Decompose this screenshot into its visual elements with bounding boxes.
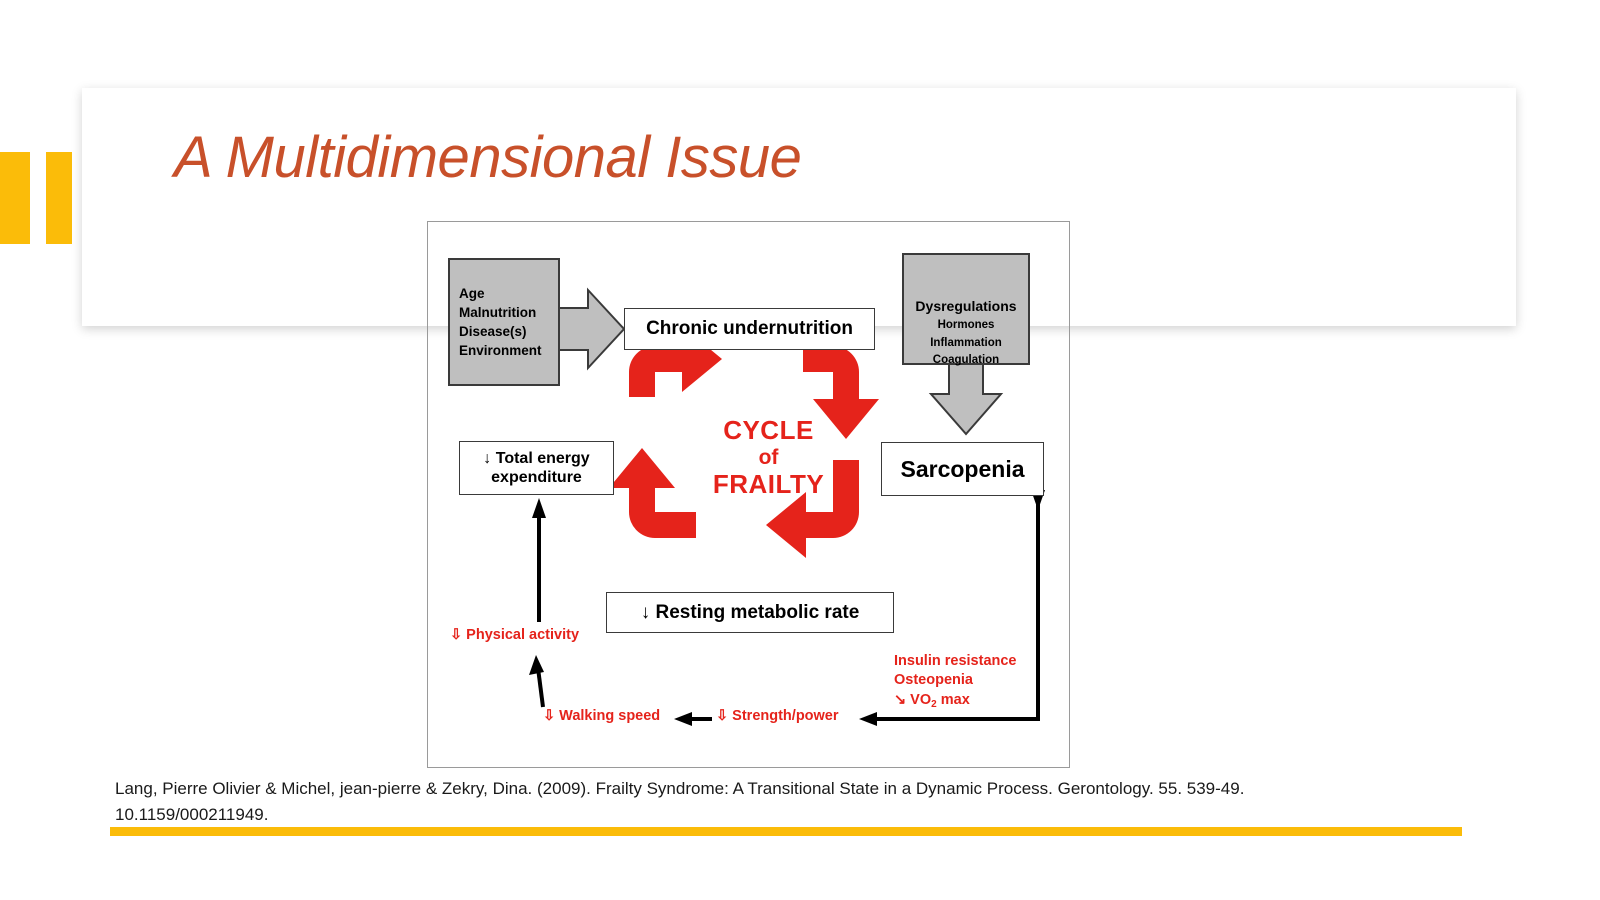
- cycle-label-line-3: FRAILTY: [691, 470, 846, 500]
- accent-bar-1: [0, 152, 30, 244]
- connector-arrowhead-up-tee: [532, 498, 546, 518]
- sarcopenia-consequences-list: Insulin resistance Osteopenia ↘ VO2 max: [894, 652, 1017, 710]
- accent-bar-2: [46, 152, 72, 244]
- connector-arrowhead-left-walking: [674, 712, 692, 726]
- cycle-arrow-bottom-left-icon: [609, 448, 696, 538]
- dysregulation-item-1: Hormones: [904, 317, 1028, 334]
- vo2-subscript: 2: [931, 699, 937, 710]
- dysregulation-item-2: Inflammation: [904, 335, 1028, 352]
- resting-metabolic-rate-box: ↓ Resting metabolic rate: [606, 592, 894, 633]
- citation-text: Lang, Pierre Olivier & Michel, jean-pier…: [115, 776, 1315, 827]
- drivers-box-line-3: Disease(s): [459, 322, 558, 341]
- bottom-accent-rule: [110, 827, 1462, 836]
- drivers-box-line-4: Environment: [459, 341, 558, 360]
- cycle-label-line-1: CYCLE: [691, 416, 846, 446]
- dysregulations-title: Dysregulations: [904, 297, 1028, 315]
- tee-line-2: expenditure: [483, 468, 589, 487]
- drivers-box-line-1: Age: [459, 284, 558, 303]
- dysregulation-item-3: Coagulation: [904, 352, 1028, 369]
- drivers-box-line-2: Malnutrition: [459, 303, 558, 322]
- page-title: A Multidimensional Issue: [174, 126, 801, 190]
- cycle-label-line-2: of: [691, 446, 846, 470]
- tee-line-1: ↓ Total energy: [483, 449, 589, 468]
- consequence-insulin-resistance: Insulin resistance: [894, 652, 1017, 671]
- connector-arrow-up-slant: [538, 668, 543, 707]
- dysregulations-items: Hormones Inflammation Coagulation: [904, 317, 1028, 369]
- chronic-undernutrition-box: Chronic undernutrition: [624, 308, 875, 350]
- gray-arrow-right-icon: [554, 290, 624, 368]
- vo2-prefix: ↘ VO: [894, 692, 931, 708]
- drivers-box: Age Malnutrition Disease(s) Environment: [448, 258, 560, 386]
- total-energy-expenditure-box: ↓ Total energy expenditure: [459, 441, 614, 495]
- sarcopenia-box: Sarcopenia: [881, 442, 1044, 496]
- strength-power-label: ⇩ Strength/power: [716, 707, 839, 726]
- diagram-inner: Age Malnutrition Disease(s) Environment …: [428, 222, 1069, 767]
- gray-arrow-down-icon: [931, 362, 1001, 434]
- connector-arrowhead-up-slant: [529, 655, 544, 675]
- walking-speed-label: ⇩ Walking speed: [543, 707, 660, 726]
- frailty-cycle-diagram: Age Malnutrition Disease(s) Environment …: [427, 221, 1070, 768]
- cycle-of-frailty-label: CYCLE of FRAILTY: [691, 416, 846, 499]
- consequence-osteopenia: Osteopenia: [894, 671, 1017, 690]
- vo2-suffix: max: [937, 692, 970, 708]
- connector-arrowhead-left-strength: [859, 712, 877, 726]
- dysregulations-box: Dysregulations Hormones Inflammation Coa…: [902, 253, 1030, 365]
- consequence-vo2-max: ↘ VO2 max: [894, 691, 1017, 710]
- physical-activity-label: ⇩ Physical activity: [450, 626, 579, 645]
